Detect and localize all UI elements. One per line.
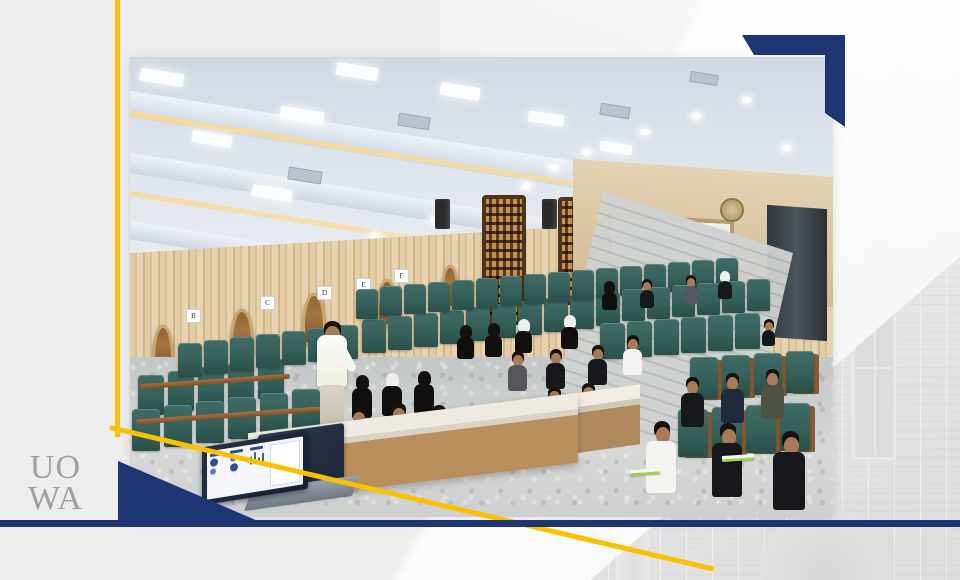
logo-line-1: UO xyxy=(28,452,83,483)
row-sign-c: C xyxy=(261,297,274,309)
row-sign-f: F xyxy=(395,270,408,282)
hero-photo: B C D E F xyxy=(130,57,833,517)
ceiling-vent xyxy=(599,103,631,120)
row-sign-d: D xyxy=(318,287,331,299)
ceiling-vent xyxy=(397,113,431,131)
wall-speaker xyxy=(435,199,450,229)
logo-line-2: WA xyxy=(28,483,83,514)
lecture-hall-scene: B C D E F xyxy=(130,57,833,517)
row-sign-b: B xyxy=(187,310,200,322)
ceiling-panel-light xyxy=(439,82,481,101)
wall-speaker xyxy=(542,199,557,229)
yellow-vertical-rule xyxy=(115,0,120,437)
ceiling-panel-light xyxy=(191,130,232,148)
ceiling-panel-light xyxy=(335,62,379,81)
ceiling-panel-light xyxy=(527,110,564,126)
uowa-logo[interactable]: UO WA xyxy=(28,452,83,515)
navy-bottom-band xyxy=(0,520,960,527)
navy-corner-side xyxy=(825,35,845,127)
ceiling-panel-light xyxy=(139,68,184,88)
ceiling-panel-light xyxy=(599,141,632,156)
ceiling-vent xyxy=(689,71,718,86)
wall-crest-emblem xyxy=(722,200,742,220)
navy-corner-bracket xyxy=(742,35,845,127)
banner-stage: B C D E F xyxy=(0,0,960,580)
